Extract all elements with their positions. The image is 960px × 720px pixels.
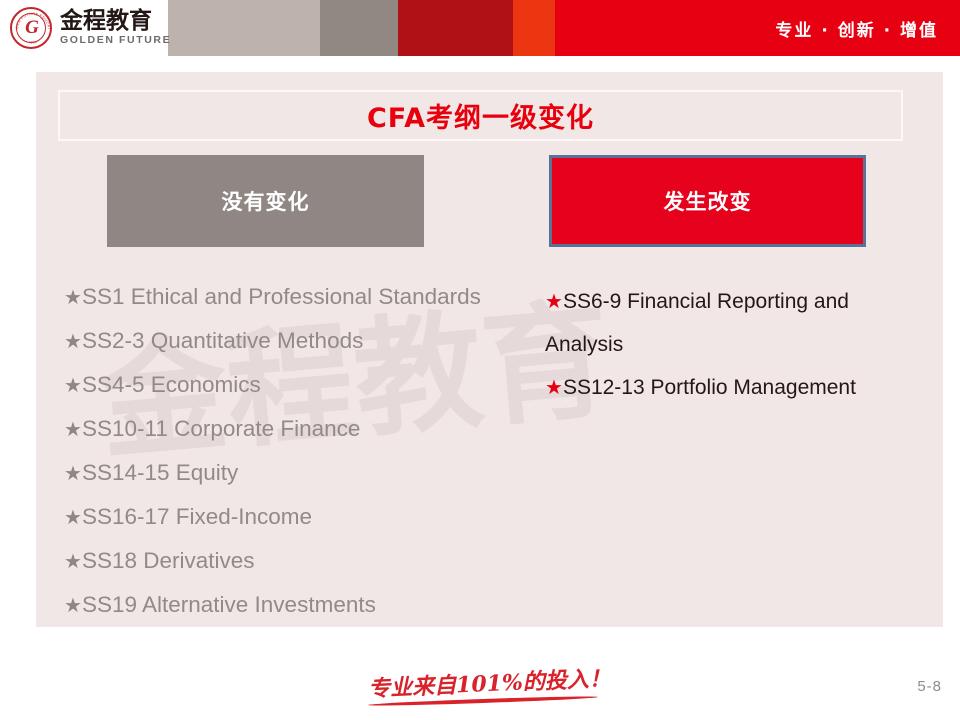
header-slogan: 专业 · 创新 · 增值 [775,0,938,56]
star-icon: ★ [64,417,82,441]
list-item-label: SS18 Derivatives [82,548,255,573]
list-item: ★SS14-15 Equity [64,451,534,495]
header-color-block-dark-red [398,0,513,56]
changed-topics-list: ★SS6-9 Financial Reporting and Analysis … [545,280,875,409]
star-icon: ★ [64,285,82,309]
list-item: ★SS6-9 Financial Reporting and Analysis [545,280,875,366]
page-title: CFA考纲一级变化 [367,96,594,135]
list-item: ★SS1 Ethical and Professional Standards [64,275,534,319]
header-color-block-dark-gray [320,0,398,56]
list-item-label: SS4-5 Economics [82,372,261,397]
seal-monogram: G [12,9,50,47]
list-item: ★SS18 Derivatives [64,539,534,583]
page-number: 5-8 [917,678,942,695]
column-heading-changed: 发生改变 [549,155,866,247]
star-icon: ★ [545,289,563,313]
list-item: ★SS2-3 Quantitative Methods [64,319,534,363]
brand-name-en: GOLDEN FUTURE [60,34,171,47]
seal-logo-icon: GOLDEN FUTURE EDUCATION · 1999 · G [10,7,52,49]
slide-panel: CFA考纲一级变化 金程教育 没有变化 发生改变 ★SS1 Ethical an… [36,72,943,627]
star-icon: ★ [64,373,82,397]
star-icon: ★ [64,505,82,529]
star-icon: ★ [64,461,82,485]
column-heading-unchanged-label: 没有变化 [222,186,310,216]
list-item-label: SS16-17 Fixed-Income [82,504,312,529]
footer-slogan: 专业来自101%的投入！ [368,666,608,703]
list-item-label: SS19 Alternative Investments [82,592,376,617]
list-item-label: SS1 Ethical and Professional Standards [82,284,481,309]
list-item: ★SS12-13 Portfolio Management [545,366,875,409]
brand-logo: GOLDEN FUTURE EDUCATION · 1999 · G 金程教育 … [10,6,171,50]
list-item: ★SS19 Alternative Investments [64,583,534,627]
page-header: GOLDEN FUTURE EDUCATION · 1999 · G 金程教育 … [0,0,960,56]
column-heading-changed-label: 发生改变 [664,186,752,216]
star-icon: ★ [64,329,82,353]
brand-name-cn: 金程教育 [60,9,171,34]
column-heading-unchanged: 没有变化 [107,155,424,247]
star-icon: ★ [545,375,563,399]
header-color-block-orange [513,0,555,56]
list-item-label: SS10-11 Corporate Finance [82,416,361,441]
list-item-label: SS12-13 Portfolio Management [563,376,856,399]
header-color-block-light-gray [168,0,320,56]
list-item-label: SS6-9 Financial Reporting and Analysis [545,290,849,356]
unchanged-topics-list: ★SS1 Ethical and Professional Standards … [64,275,534,627]
brand-wordmark: 金程教育 GOLDEN FUTURE [60,9,171,47]
list-item-label: SS2-3 Quantitative Methods [82,328,363,353]
star-icon: ★ [64,593,82,617]
list-item-label: SS14-15 Equity [82,460,238,485]
list-item: ★SS4-5 Economics [64,363,534,407]
list-item: ★SS16-17 Fixed-Income [64,495,534,539]
slide-title-box: CFA考纲一级变化 [58,90,903,141]
star-icon: ★ [64,549,82,573]
list-item: ★SS10-11 Corporate Finance [64,407,534,451]
